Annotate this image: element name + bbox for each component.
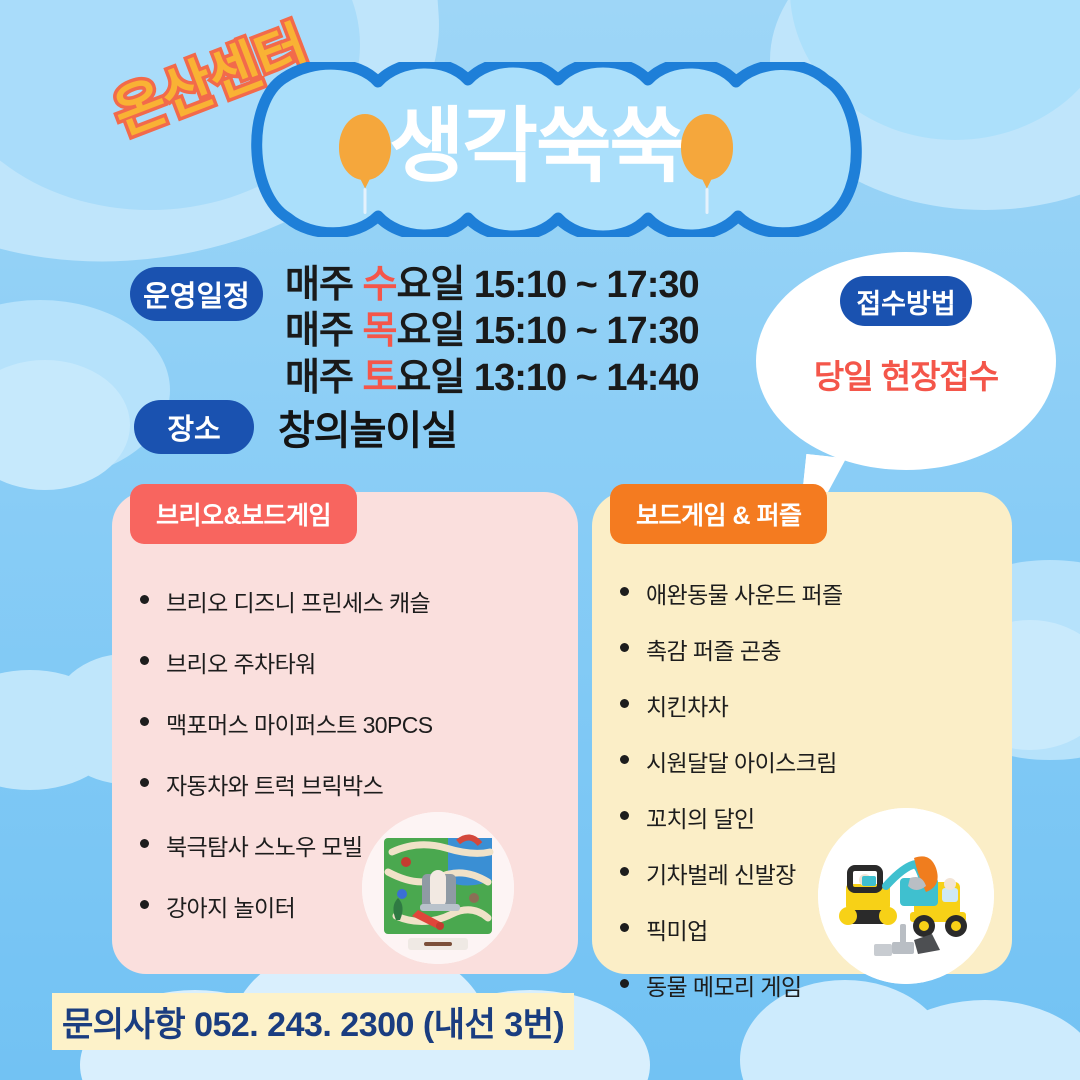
page-title: 생각쑥쑥 xyxy=(389,106,683,194)
schedule-day: 토 xyxy=(362,357,396,399)
duplo-excavator-truck-photo xyxy=(818,808,994,984)
signup-value: 당일 현장접수 xyxy=(814,350,998,398)
schedule-line: 매주 수요일 15:10 ~ 17:30 xyxy=(285,263,699,307)
schedule-prefix: 매주 xyxy=(285,310,362,352)
contact-footer: 문의사항 052. 243. 2300 (내선 3번) xyxy=(52,993,574,1050)
list-item: 브리오 주차타워 xyxy=(136,645,562,679)
signup-method-bubble: 접수방법 당일 현장접수 xyxy=(756,252,1056,470)
schedule-prefix: 매주 xyxy=(285,264,362,306)
balloon-left-icon xyxy=(339,114,391,180)
schedule-line: 매주 토요일 13:10 ~ 14:40 xyxy=(285,356,699,400)
list-item: 브리오 디즈니 프린세스 캐슬 xyxy=(136,584,562,618)
place-section: 장소 창의놀이실 xyxy=(134,398,457,456)
schedule-time: 요일 15:10 ~ 17:30 xyxy=(396,264,698,306)
cloud-puff-left-2 xyxy=(0,360,130,490)
list-item: 자동차와 트럭 브릭박스 xyxy=(136,767,562,801)
place-badge: 장소 xyxy=(134,400,254,454)
list-item: 치킨차차 xyxy=(616,688,996,722)
card-right-tab-label: 보드게임 & 퍼즐 xyxy=(610,484,827,544)
brio-train-set-illustration xyxy=(362,812,514,964)
schedule-time: 요일 15:10 ~ 17:30 xyxy=(396,310,698,352)
schedule-day: 목 xyxy=(362,310,396,352)
brio-train-set-photo xyxy=(362,812,514,964)
schedule-section: 운영일정 매주 수요일 15:10 ~ 17:30 매주 목요일 15:10 ~… xyxy=(130,263,699,400)
schedule-line-list: 매주 수요일 15:10 ~ 17:30 매주 목요일 15:10 ~ 17:3… xyxy=(285,263,699,400)
balloon-right-icon xyxy=(681,114,733,180)
list-item: 촉감 퍼즐 곤충 xyxy=(616,632,996,666)
list-item: 맥포머스 마이퍼스트 30PCS xyxy=(136,706,562,740)
bubble-body: 접수방법 당일 현장접수 xyxy=(756,252,1056,470)
schedule-time: 요일 13:10 ~ 14:40 xyxy=(396,357,698,399)
duplo-excavator-truck-illustration xyxy=(818,808,994,984)
schedule-prefix: 매주 xyxy=(285,357,362,399)
title-banner: 생각쑥쑥 xyxy=(196,62,876,237)
place-value: 창의놀이실 xyxy=(278,398,457,456)
schedule-day: 수 xyxy=(362,264,396,306)
card-left-tab-label: 브리오&보드게임 xyxy=(130,484,357,544)
poster-canvas: 온산센터 생각쑥쑥 운영일정 매주 수요일 15:10 ~ 17:30 매주 목… xyxy=(0,0,1080,1080)
signup-badge: 접수방법 xyxy=(840,276,972,326)
schedule-line: 매주 목요일 15:10 ~ 17:30 xyxy=(285,309,699,353)
list-item: 애완동물 사운드 퍼즐 xyxy=(616,576,996,610)
list-item: 시원달달 아이스크림 xyxy=(616,744,996,778)
schedule-badge: 운영일정 xyxy=(130,267,263,321)
